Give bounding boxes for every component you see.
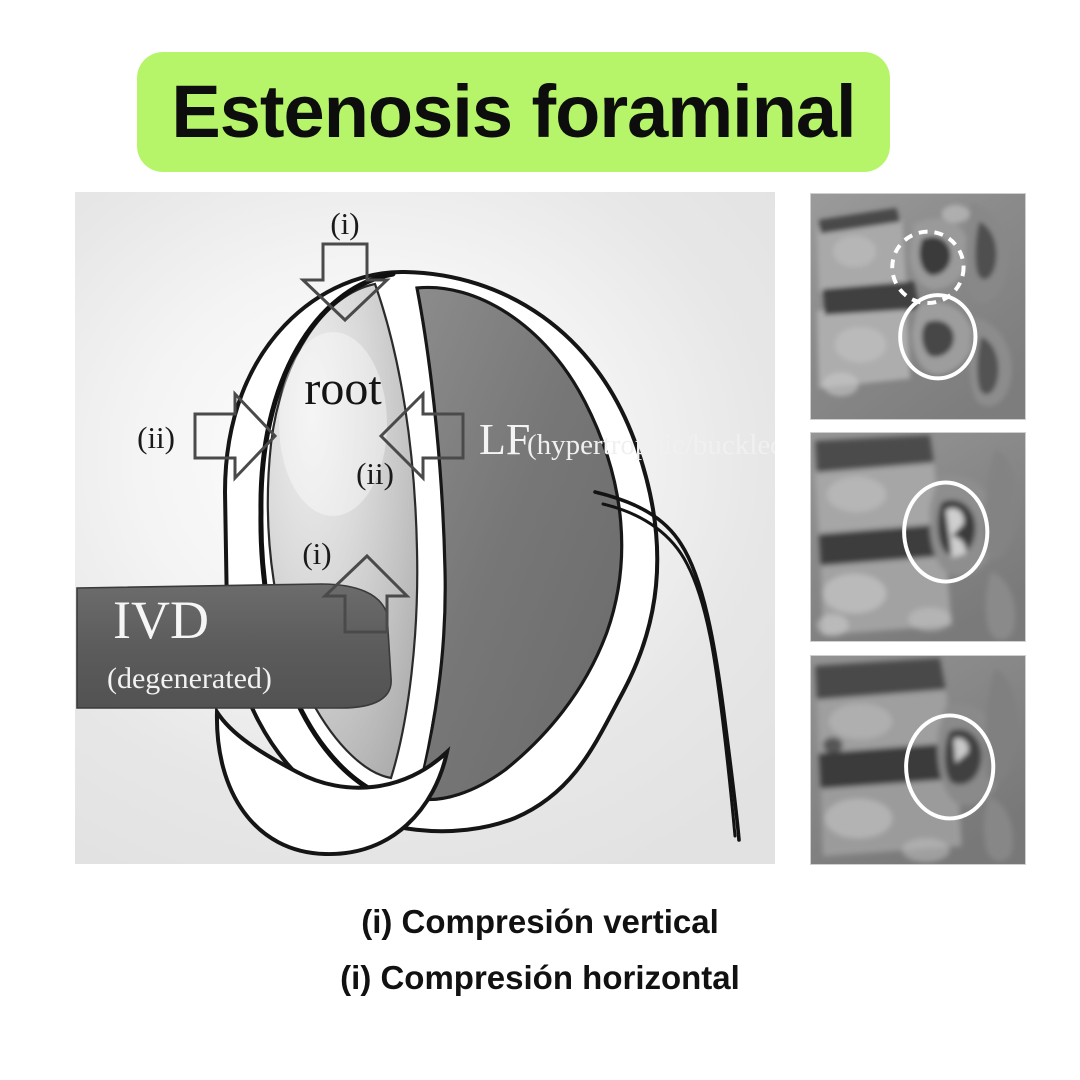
title-banner: Estenosis foraminal [137, 52, 890, 172]
caption-block: (i) Compresión vertical (i) Compresión h… [0, 905, 1080, 1017]
lf-sublabel: (hypertrophic/buckled) [527, 429, 775, 461]
arrow-bottom-label: (i) [302, 536, 331, 571]
arrow-right-label: (ii) [356, 456, 394, 491]
root-label: root [304, 362, 382, 415]
mri-image-3 [811, 656, 1025, 864]
caption-line-horizontal: (i) Compresión horizontal [0, 961, 1080, 994]
mri-panel-3 [810, 655, 1026, 865]
mri-image-2 [811, 433, 1025, 641]
mri-image-column [810, 193, 1026, 865]
diagram-illustration: (i) (i) (ii) (ii) root LF (hypertrophic/… [75, 192, 775, 864]
ivd-sublabel: (degenerated) [107, 662, 272, 695]
lf-label: LF [479, 415, 530, 464]
mri-image-1 [811, 194, 1025, 419]
caption-line-vertical: (i) Compresión vertical [0, 905, 1080, 938]
arrow-left-label: (ii) [137, 420, 175, 455]
mri-panel-1 [810, 193, 1026, 420]
arrow-top-label: (i) [330, 206, 359, 241]
ivd-label: IVD [113, 590, 209, 650]
mri-panel-2 [810, 432, 1026, 642]
page-title: Estenosis foraminal [171, 75, 855, 149]
foraminal-stenosis-diagram: (i) (i) (ii) (ii) root LF (hypertrophic/… [75, 192, 775, 864]
